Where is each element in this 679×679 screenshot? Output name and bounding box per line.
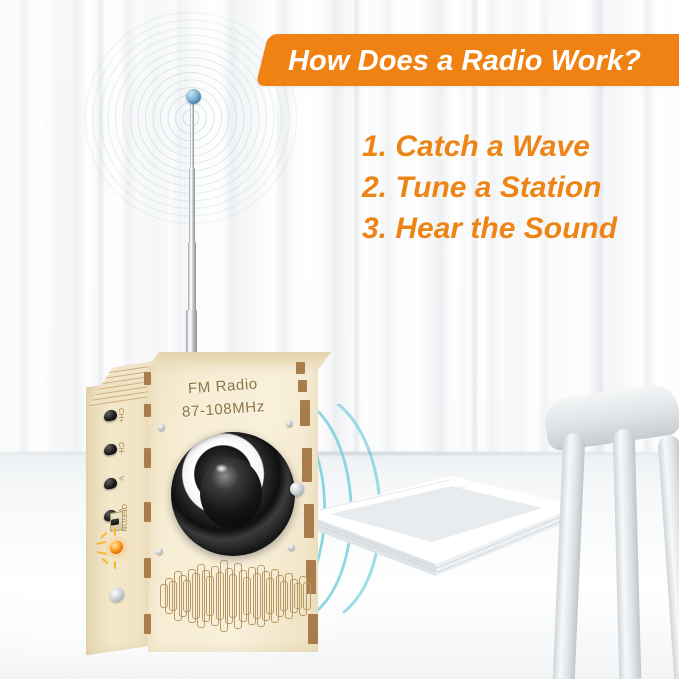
chair-spindle bbox=[657, 435, 679, 679]
light-gray-wooden-chair bbox=[540, 385, 679, 679]
panel-screw bbox=[288, 544, 295, 551]
waveform-bar bbox=[303, 582, 311, 610]
open-magazine-stack bbox=[300, 470, 580, 590]
curtain-highlight bbox=[28, 0, 54, 470]
finger-joint bbox=[302, 448, 312, 482]
led-glow-ray bbox=[114, 561, 116, 569]
finger-joint bbox=[304, 504, 314, 538]
panel-screw bbox=[286, 420, 293, 427]
finger-joint bbox=[300, 400, 310, 426]
finger-joint bbox=[144, 614, 151, 634]
chair-spindle bbox=[553, 433, 586, 679]
volume-down-button-label: V- bbox=[117, 476, 124, 483]
finger-joint bbox=[296, 362, 305, 374]
channel-down-button-label: CH- bbox=[117, 442, 124, 455]
antenna-tip bbox=[186, 89, 201, 104]
finger-joint bbox=[144, 558, 151, 578]
speaker-dome bbox=[200, 458, 262, 528]
finger-joint bbox=[144, 502, 151, 522]
assembly-screw bbox=[290, 482, 304, 496]
finger-joint bbox=[144, 372, 151, 385]
product-infographic-image: FM Radio 87-108MHz CH+CH-V-V+ OFF/ON How bbox=[0, 0, 679, 679]
page-title: How Does a Radio Work? bbox=[288, 42, 679, 80]
step-item-1: 1. Catch a Wave bbox=[362, 126, 679, 167]
step-item-3: 3. Hear the Sound bbox=[362, 208, 679, 249]
audio-waveform-engraving bbox=[160, 558, 308, 636]
panel-screw bbox=[156, 548, 163, 555]
led-glow-ray bbox=[114, 528, 116, 536]
power-switch-knob[interactable] bbox=[111, 518, 119, 525]
steps-list: 1. Catch a Wave2. Tune a Station3. Hear … bbox=[362, 126, 679, 249]
finger-joint bbox=[308, 614, 318, 644]
finger-joint bbox=[298, 380, 307, 392]
speaker-driver bbox=[171, 432, 295, 556]
speaker-highlight bbox=[215, 464, 228, 473]
chair-spindle bbox=[613, 429, 642, 679]
finger-joint bbox=[144, 404, 151, 417]
finger-joint bbox=[144, 448, 151, 468]
wooden-fm-radio: FM Radio 87-108MHz CH+CH-V-V+ OFF/ON bbox=[86, 352, 318, 652]
channel-up-button-label: CH+ bbox=[117, 408, 124, 423]
step-item-2: 2. Tune a Station bbox=[362, 167, 679, 208]
power-switch-label: OFF/ON bbox=[120, 504, 127, 532]
panel-screw bbox=[158, 424, 165, 431]
